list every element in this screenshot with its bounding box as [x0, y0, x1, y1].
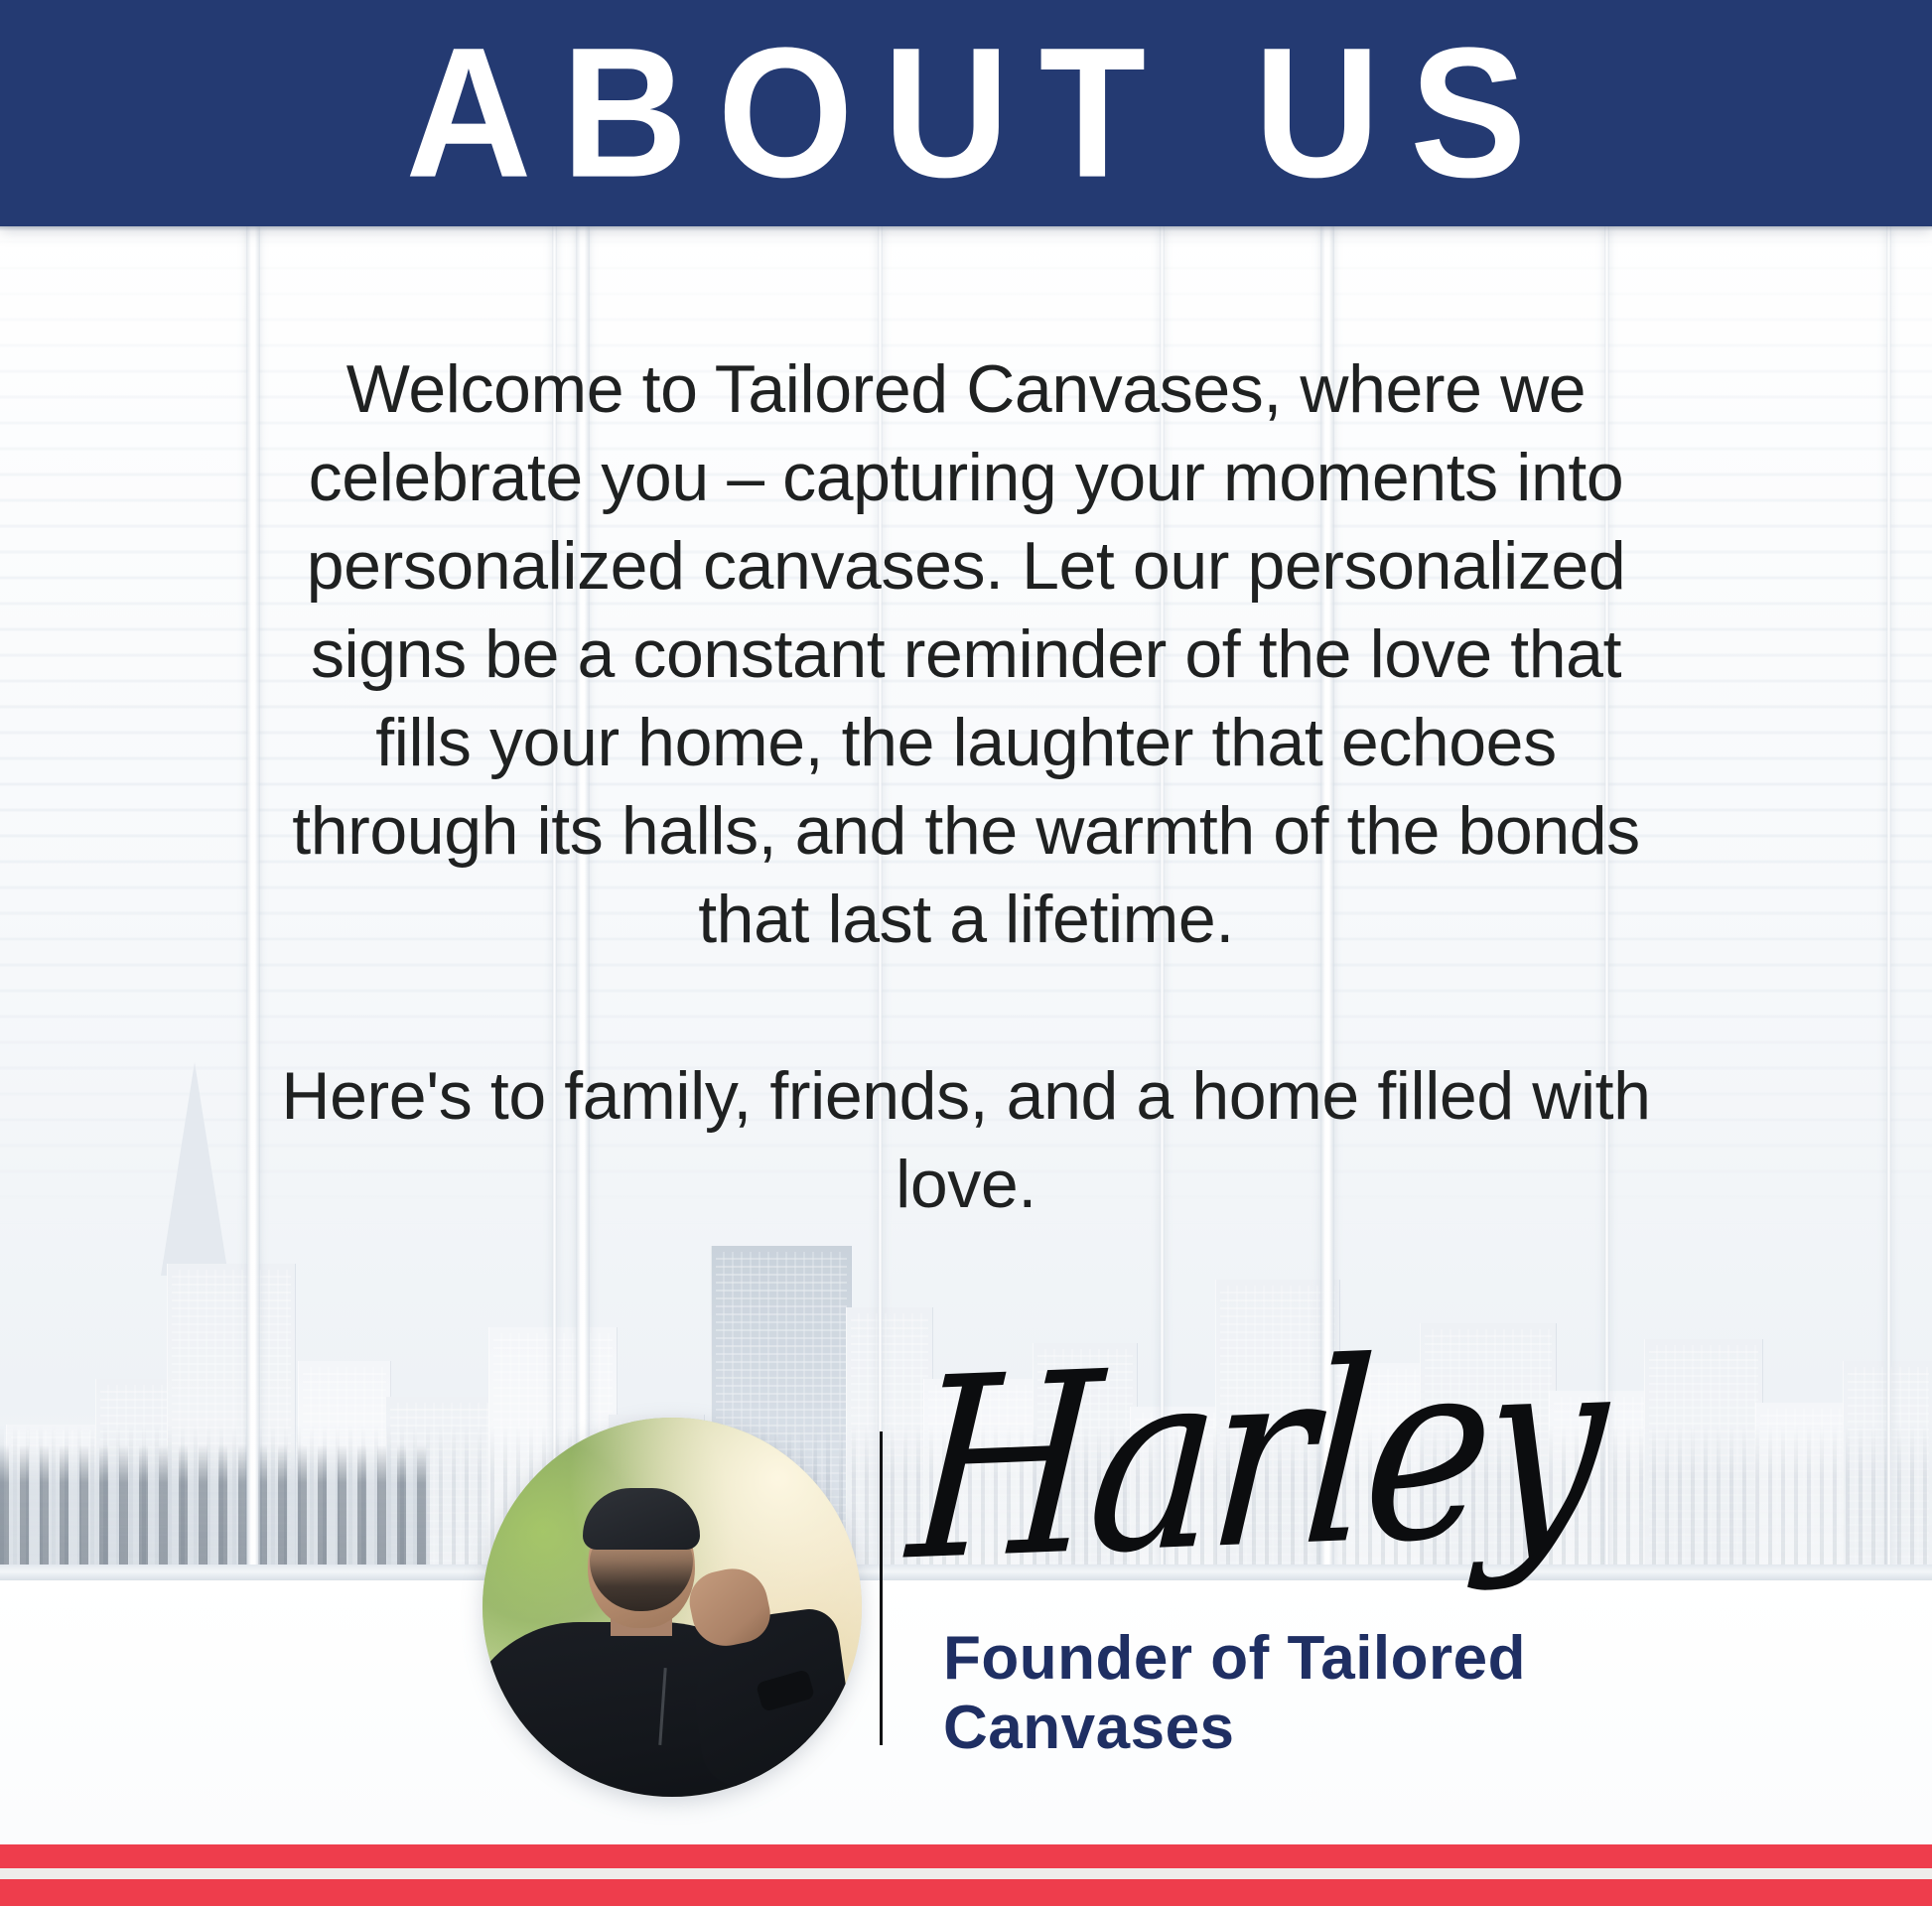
signature-role: Founder of Tailored Canvases: [943, 1624, 1559, 1763]
footer-stripe-bottom: [0, 1879, 1932, 1906]
signature-role-line-2: Canvases: [943, 1694, 1559, 1763]
paragraph-closing: Here's to family, friends, and a home fi…: [261, 1052, 1671, 1229]
about-copy: Welcome to Tailored Canvases, where we c…: [261, 345, 1671, 1229]
lowrise-dark-buildings: [0, 1444, 427, 1573]
signature-divider: [880, 1431, 883, 1745]
window-mullion: [1886, 226, 1891, 1573]
header-bar: ABOUT US: [0, 0, 1932, 226]
footer-stripe-top: [0, 1844, 1932, 1868]
about-us-poster: ABOUT US Welcome to Tailored Canvases, w…: [0, 0, 1932, 1906]
footer-stripe-gap: [0, 1868, 1932, 1879]
pyramid-spire: [161, 1062, 228, 1276]
header-underline: [0, 226, 1932, 231]
signature-role-line-1: Founder of Tailored: [943, 1624, 1559, 1694]
page-title: ABOUT US: [375, 21, 1556, 206]
window-mullion: [246, 226, 260, 1573]
signature-name: Harley: [903, 1322, 1555, 1596]
avatar-hair: [583, 1488, 700, 1550]
avatar: [483, 1418, 862, 1797]
paragraph-intro: Welcome to Tailored Canvases, where we c…: [261, 345, 1671, 964]
avatar-photo: [483, 1418, 862, 1797]
